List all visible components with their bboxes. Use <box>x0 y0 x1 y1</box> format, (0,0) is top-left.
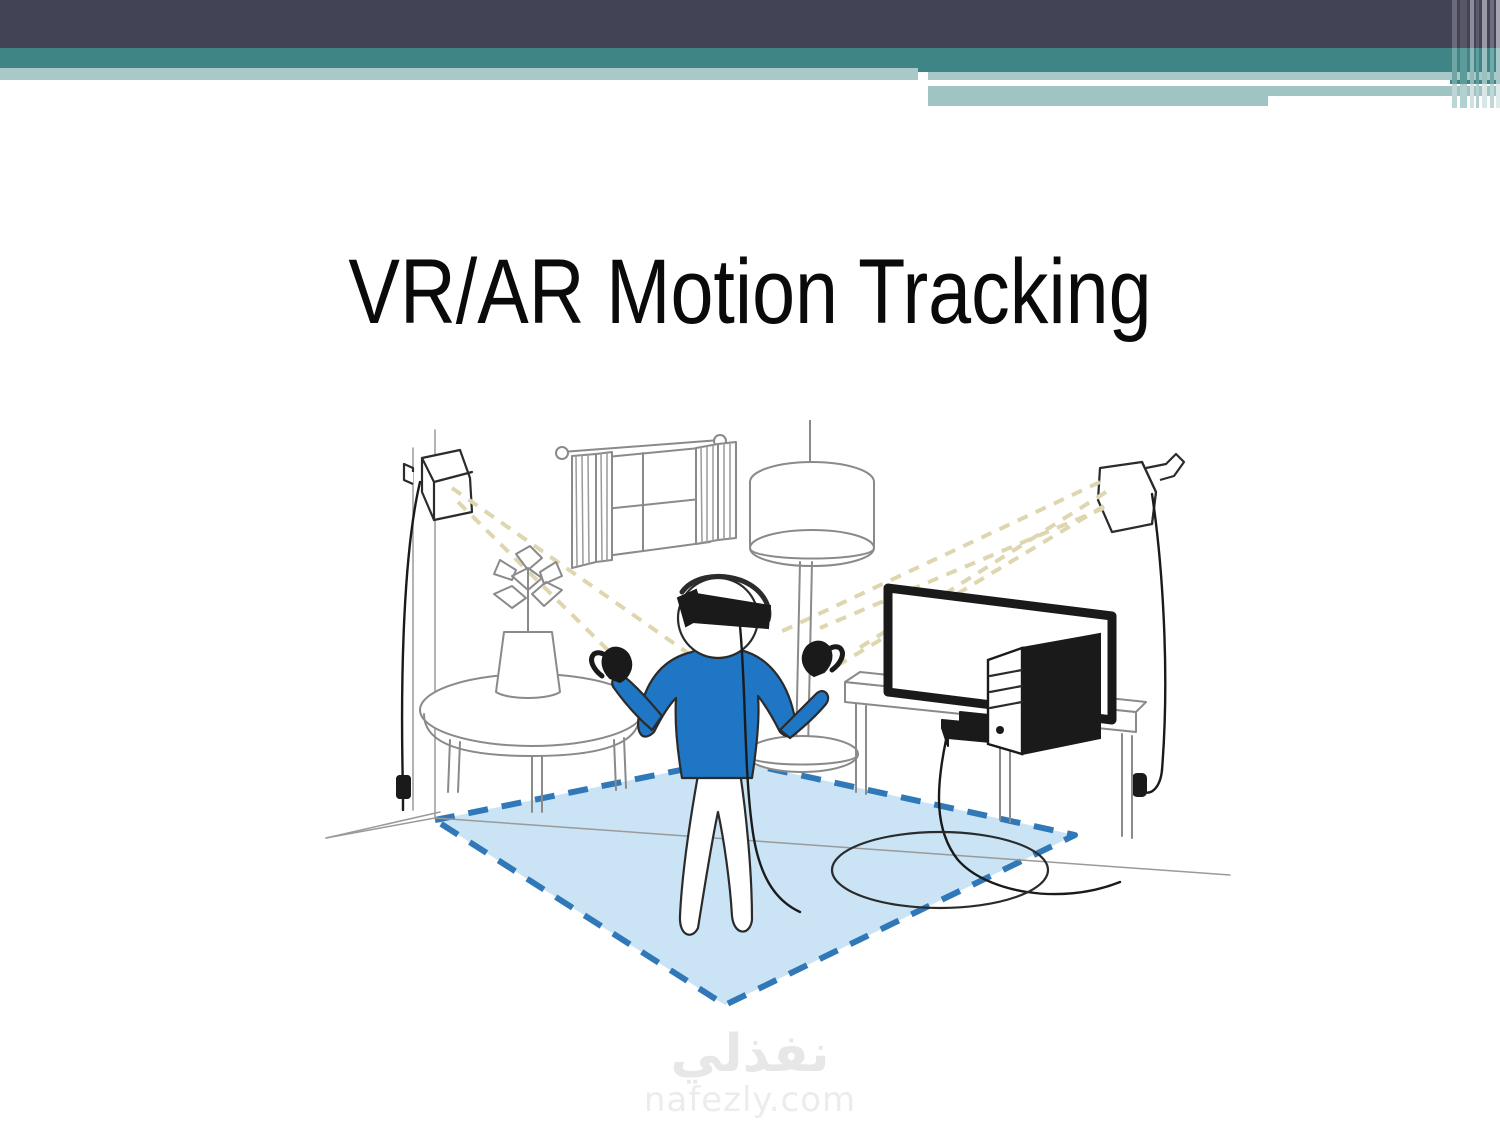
stripe-7 <box>1496 0 1500 48</box>
stripe-2 <box>1460 48 1467 84</box>
stripe-1 <box>1452 84 1457 108</box>
wall-outlet-left <box>397 776 410 798</box>
stripe-3 <box>1470 84 1474 108</box>
stripe-4 <box>1476 84 1479 108</box>
left-controller <box>592 648 632 682</box>
stripe-1 <box>1452 48 1457 84</box>
window-with-curtains <box>556 435 736 568</box>
stripe-5 <box>1482 84 1487 108</box>
potted-plant <box>494 546 562 698</box>
stripe-2 <box>1460 0 1467 48</box>
stripe-7 <box>1496 48 1500 84</box>
stripe-7 <box>1496 84 1500 108</box>
stripe-2 <box>1460 84 1467 108</box>
stripe-4 <box>1476 48 1479 84</box>
watermark-arabic: نفذلي <box>0 1028 1500 1080</box>
stripe-6 <box>1490 48 1494 84</box>
header-dark-band <box>0 0 1500 48</box>
stripe-6 <box>1490 84 1494 108</box>
page-title: VR/AR Motion Tracking <box>120 240 1380 345</box>
stripe-3 <box>1470 0 1474 48</box>
stripe-3 <box>1470 48 1474 84</box>
watermark-latin: nafezly.com <box>0 1082 1500 1119</box>
header-pale-band-mid <box>928 72 1500 80</box>
stripe-1 <box>1452 0 1457 48</box>
stripe-5 <box>1482 0 1487 48</box>
stripe-6 <box>1490 0 1494 48</box>
vr-room-tracking-diagram: .ln { fill:none; stroke:#2b2b2b; stroke-… <box>300 420 1290 1040</box>
presentation-slide: VR/AR Motion Tracking .ln { fill:none; s… <box>0 0 1500 1125</box>
header-pale-band-left <box>0 68 918 80</box>
stripe-4 <box>1476 0 1479 48</box>
stripe-5 <box>1482 48 1487 84</box>
right-controller <box>803 642 843 676</box>
watermark: نفذلي nafezly.com <box>0 1028 1500 1119</box>
